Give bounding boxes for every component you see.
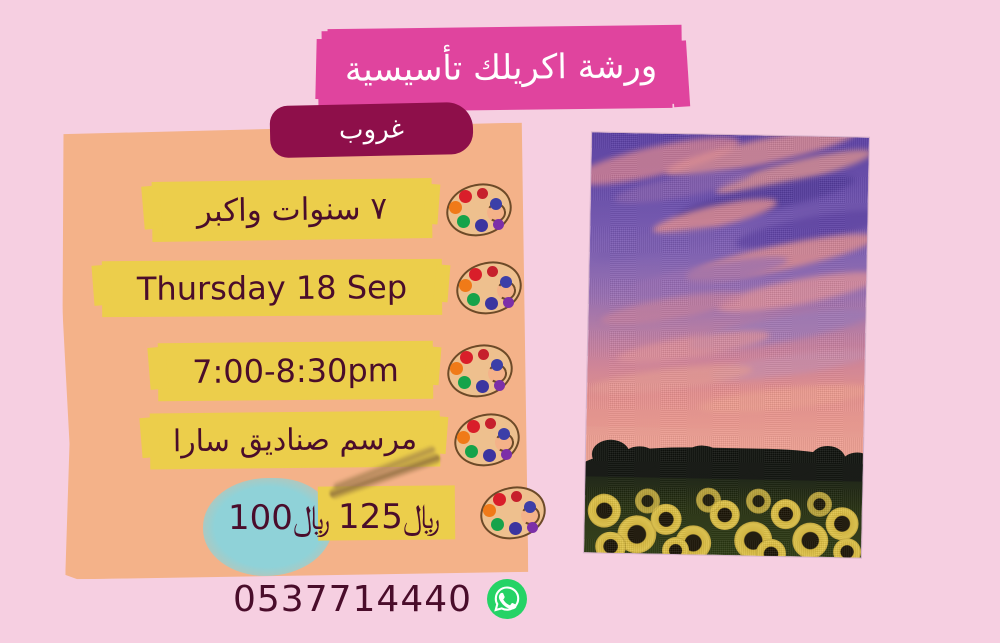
subtitle-banner: غروب (269, 102, 473, 158)
detail-row-age: ٧ سنوات واكبر (152, 180, 512, 240)
palette-icon (480, 487, 546, 539)
sunset-painting (584, 132, 869, 557)
workshop-poster: ورشة اكريلك تأسيسية غروب ٧ سنوات واكبر T… (0, 0, 1000, 643)
old-price: ﷼125 (338, 497, 441, 537)
palette-icon (454, 414, 520, 466)
palette-icon (446, 184, 512, 236)
palette-icon (447, 345, 513, 397)
date-text: Thursday 18 Sep (102, 259, 442, 317)
detail-row-venue: مرسم صناديق سارا (150, 412, 520, 468)
new-price: ﷼100 (228, 498, 331, 538)
whatsapp-icon[interactable] (486, 578, 528, 620)
contact-row[interactable]: 0537714440 (233, 578, 528, 620)
subtitle-text: غروب (339, 114, 405, 145)
detail-row-time: 7:00-8:30pm (158, 342, 513, 400)
detail-row-date: Thursday 18 Sep (102, 260, 522, 316)
page-title: ورشة اكريلك تأسيسية (322, 27, 681, 108)
time-text: 7:00-8:30pm (158, 341, 433, 401)
age-text: ٧ سنوات واكبر (152, 178, 433, 242)
title-banner: ورشة اكريلك تأسيسية (322, 27, 681, 108)
palette-icon (456, 262, 522, 314)
phone-number[interactable]: 0537714440 (233, 579, 472, 620)
